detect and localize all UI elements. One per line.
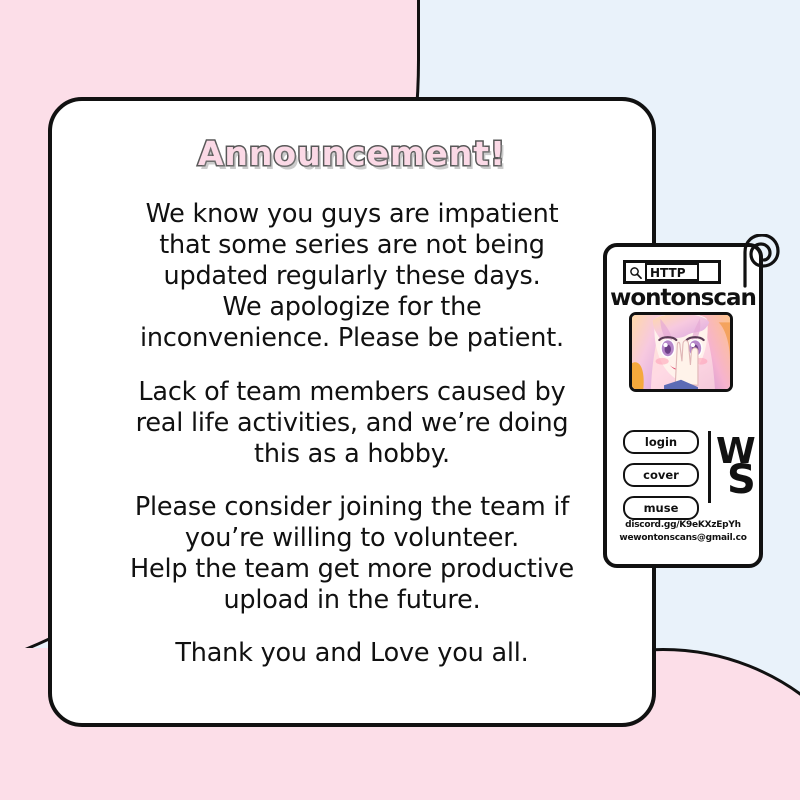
button-group: login cover muse bbox=[623, 430, 699, 529]
svg-text:S: S bbox=[727, 457, 756, 503]
poster-canvas: Announcement! We know you guys are impat… bbox=[0, 0, 800, 800]
brand-name: wontonscan bbox=[607, 285, 759, 311]
paragraph-4: Thank you and Love you all. bbox=[86, 638, 618, 669]
anime-girl-illustration bbox=[632, 315, 730, 389]
search-input[interactable]: HTTP bbox=[645, 263, 699, 281]
contact-info: discord.gg/K9eKXzEpYh wewontonscans@gmai… bbox=[607, 519, 759, 544]
ws-logo: W S bbox=[715, 429, 763, 505]
announcement-body: We know you guys are impatient that some… bbox=[86, 199, 618, 669]
paragraph-1: We know you guys are impatient that some… bbox=[86, 199, 618, 355]
login-button[interactable]: login bbox=[623, 430, 699, 454]
page-title: Announcement! bbox=[52, 134, 652, 173]
cover-button[interactable]: cover bbox=[623, 463, 699, 487]
announcement-card: Announcement! We know you guys are impat… bbox=[48, 97, 656, 727]
paragraph-2: Lack of team members caused by real life… bbox=[86, 377, 618, 470]
scanlation-info-card: HTTP wontonscan bbox=[603, 243, 763, 568]
muse-button[interactable]: muse bbox=[623, 496, 699, 520]
email-address[interactable]: wewontonscans@gmail.co bbox=[607, 532, 759, 545]
avatar-thumbnail bbox=[629, 312, 733, 392]
paperclip-icon bbox=[741, 234, 787, 292]
discord-link[interactable]: discord.gg/K9eKXzEpYh bbox=[607, 519, 759, 532]
search-bar[interactable]: HTTP bbox=[623, 260, 721, 284]
paragraph-3: Please consider joining the team if you’… bbox=[86, 492, 618, 616]
vertical-divider bbox=[708, 431, 711, 503]
search-icon bbox=[629, 266, 642, 279]
